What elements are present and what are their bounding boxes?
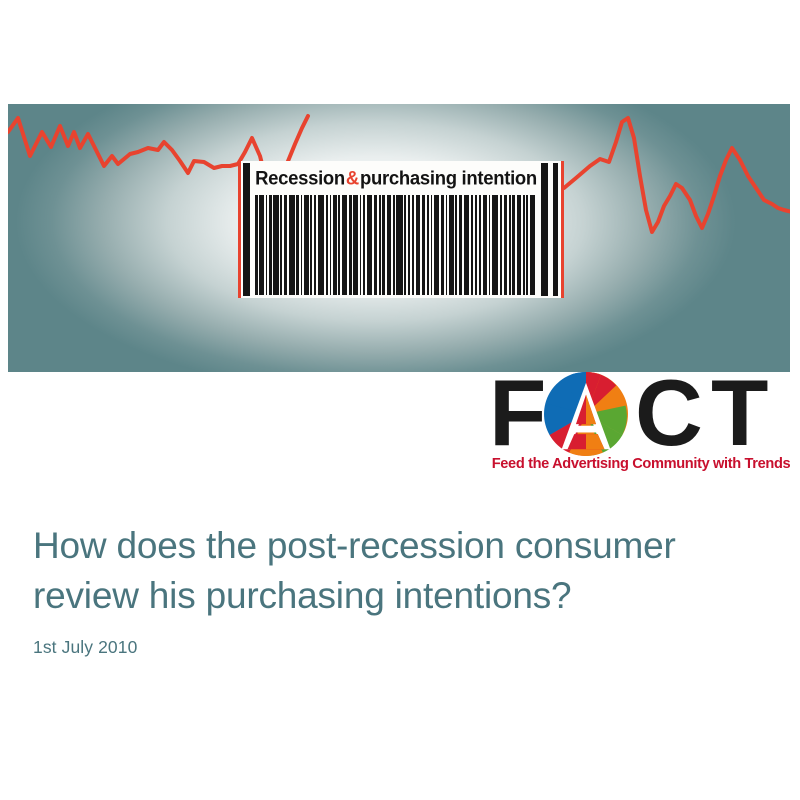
chart-line-right	[564, 118, 790, 272]
barcode-bar	[412, 195, 414, 295]
barcode-bar	[387, 195, 391, 295]
barcode-bar	[492, 195, 498, 295]
barcode-bar	[479, 195, 481, 295]
barcode-bar	[404, 195, 406, 295]
barcode-bar	[431, 195, 433, 295]
logo-letter-f: F	[489, 366, 546, 460]
barcode-bar	[296, 195, 299, 295]
barcode-bar	[289, 195, 294, 295]
barcode-bar	[517, 195, 521, 295]
barcode-bar	[280, 195, 282, 295]
barcode-bar	[449, 195, 453, 295]
barcode-bar	[333, 195, 337, 295]
barcode-guard-bar-right-1	[541, 163, 548, 296]
barcode-bar	[396, 195, 402, 295]
barcode-guard-bar-right-2	[553, 163, 558, 296]
barcode-bar	[512, 195, 515, 295]
logo-letter-c: C	[635, 366, 703, 460]
barcode-bar	[446, 195, 448, 295]
logo-letter-a-colorwheel-icon	[544, 372, 628, 456]
barcode-bar	[483, 195, 487, 295]
barcode-headline-suffix: purchasing intention	[360, 166, 537, 189]
barcode-guard-bar-left	[243, 163, 250, 296]
barcode-bar	[393, 195, 395, 295]
barcode-bar	[318, 195, 324, 295]
barcode-bar	[269, 195, 272, 295]
barcode-bar	[314, 195, 317, 295]
barcode-bar	[266, 195, 268, 295]
barcode-bar	[475, 195, 478, 295]
barcode-bar	[301, 195, 303, 295]
barcode-bar	[408, 195, 411, 295]
barcode-bar	[255, 195, 258, 295]
barcode-headline-ampersand: &	[345, 166, 360, 189]
recession-banner: Recession & purchasing intention	[8, 104, 790, 372]
barcode-bar	[416, 195, 420, 295]
barcode-bar	[464, 195, 469, 295]
barcode-bar	[489, 195, 491, 295]
barcode-bar	[304, 195, 308, 295]
barcode-bar	[459, 195, 463, 295]
barcode-bar	[434, 195, 439, 295]
barcode-bar	[526, 195, 528, 295]
barcode-bar	[326, 195, 328, 295]
barcode-bar	[363, 195, 365, 295]
page-date: 1st July 2010	[33, 637, 763, 658]
barcode-bar	[273, 195, 278, 295]
barcode-headline-prefix: Recession	[255, 166, 345, 189]
barcode-bar	[530, 195, 535, 295]
barcode-bar	[284, 195, 288, 295]
barcode-graphic: Recession & purchasing intention	[238, 161, 564, 298]
barcode-bar	[471, 195, 473, 295]
barcode-bar	[259, 195, 263, 295]
barcode-body: Recession & purchasing intention	[241, 161, 561, 298]
barcode-bar	[360, 195, 362, 295]
barcode-bar	[342, 195, 347, 295]
logo-tagline: Feed the Advertising Community with Tren…	[490, 456, 792, 472]
barcode-bar	[500, 195, 502, 295]
barcode-bar	[310, 195, 312, 295]
fact-wordmark: F	[489, 369, 792, 455]
barcode-headline: Recession & purchasing intention	[255, 162, 537, 194]
barcode-bar	[441, 195, 444, 295]
barcode-bar	[353, 195, 357, 295]
barcode-bars	[255, 195, 537, 295]
barcode-bar	[382, 195, 385, 295]
barcode-bar	[509, 195, 511, 295]
barcode-bar	[427, 195, 429, 295]
barcode-bar	[504, 195, 508, 295]
barcode-bar	[349, 195, 352, 295]
page-title: How does the post-recession consumer rev…	[33, 521, 763, 621]
barcode-bar	[367, 195, 372, 295]
fact-logo: F	[489, 369, 792, 475]
barcode-bar	[523, 195, 525, 295]
barcode-bar	[338, 195, 340, 295]
barcode-bar	[330, 195, 332, 295]
barcode-bar	[379, 195, 381, 295]
barcode-bar	[422, 195, 426, 295]
barcode-red-rule-right	[561, 161, 564, 298]
logo-letter-t: T	[711, 366, 768, 460]
barcode-bar	[455, 195, 457, 295]
title-block: How does the post-recession consumer rev…	[33, 521, 763, 658]
barcode-bar	[374, 195, 378, 295]
